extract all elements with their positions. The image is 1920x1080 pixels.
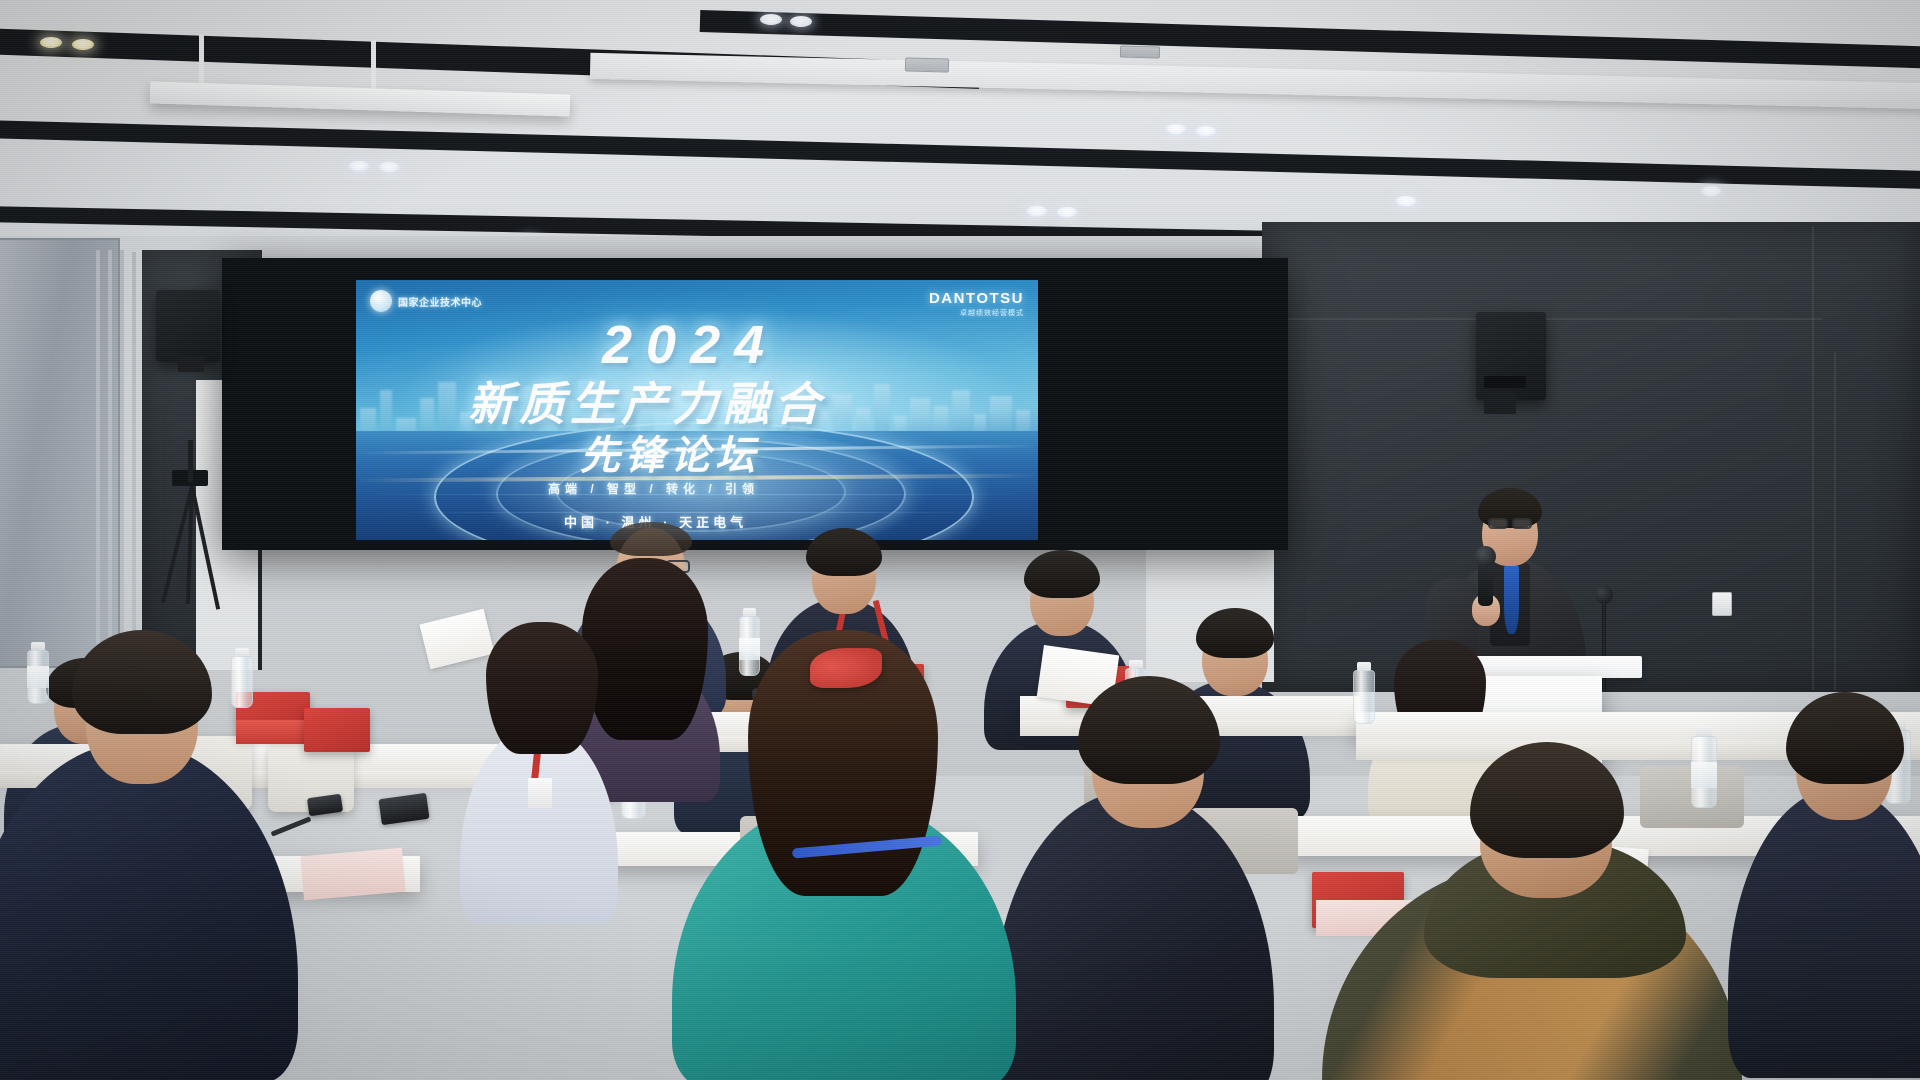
light-switch-plate — [1712, 592, 1732, 616]
gift-box-face — [236, 720, 310, 744]
bottle-body — [1353, 670, 1375, 724]
handheld-microphone-capsule-icon — [1475, 546, 1496, 567]
screen-subheadline-text: 先锋论坛 — [580, 423, 760, 481]
air-vent — [905, 57, 949, 72]
ceiling — [0, 0, 1920, 250]
tripod-column — [188, 440, 193, 482]
pen — [271, 816, 312, 836]
bottle-label — [1691, 762, 1717, 788]
smartphone — [307, 794, 343, 817]
downlight-11 — [1195, 126, 1217, 137]
bottle-body — [231, 656, 253, 708]
mullion-4 — [132, 252, 136, 670]
ceiling-hanger-left — [199, 34, 204, 90]
presenter-glasses-right — [1512, 518, 1532, 529]
downlight-12 — [1026, 206, 1048, 217]
loudspeaker-right-mount — [1484, 392, 1516, 414]
wall-seam-vertical — [1812, 226, 1814, 690]
bottle-label — [739, 638, 760, 660]
loudspeaker-left-mount — [178, 356, 204, 372]
downlight-1 — [40, 37, 62, 48]
name-badge — [528, 778, 552, 808]
body — [0, 742, 298, 1080]
downlight-8 — [760, 14, 782, 25]
screen-year-text: 2024 — [602, 314, 778, 376]
led-screen: 国家企业技术中心 DANTOTSU 卓越绩效经营模式 2024 新质生产力融合 … — [356, 280, 1038, 540]
screen-logo-left-text: 国家企业技术中心 — [398, 294, 482, 309]
downlight-13 — [1056, 207, 1078, 218]
air-vent-2 — [1120, 46, 1160, 59]
loudspeaker-right-grill — [1484, 376, 1526, 388]
document-sheet-pink — [300, 848, 405, 901]
downlight-4 — [378, 162, 400, 173]
downlight-15 — [1700, 186, 1722, 197]
presenter-tie — [1504, 566, 1519, 634]
hair — [610, 522, 692, 556]
gift-box — [304, 708, 370, 752]
brand-subtitle-text: 卓越绩效经营模式 — [929, 308, 1024, 318]
conference-photo-scene: 国家企业技术中心 DANTOTSU 卓越绩效经营模式 2024 新质生产力融合 … — [0, 0, 1920, 1080]
mullion-2 — [108, 250, 112, 670]
bottle-label — [27, 666, 49, 688]
ceiling-light-panel — [150, 81, 570, 116]
downlight-2 — [72, 39, 94, 50]
screen-logo-left: 国家企业技术中心 — [370, 290, 482, 312]
loudspeaker-left — [156, 290, 220, 362]
circle-logo-mark-icon — [370, 290, 392, 312]
wall-seam-vertical-2 — [1834, 352, 1836, 690]
glass-partition-left — [0, 238, 120, 668]
hair — [486, 622, 598, 754]
smartphone — [378, 793, 429, 825]
presenter-glasses — [1488, 518, 1508, 529]
hair-bow — [810, 648, 882, 688]
ceiling-channel-2 — [0, 120, 1920, 190]
mullion-3 — [120, 250, 124, 670]
downlight-10 — [1165, 124, 1187, 135]
screen-logo-right: DANTOTSU 卓越绩效经营模式 — [929, 290, 1024, 318]
downlight-14 — [1395, 196, 1417, 207]
hair — [582, 558, 708, 740]
downlight-9 — [790, 16, 812, 27]
brand-name-text: DANTOTSU — [929, 290, 1024, 307]
downlight-3 — [348, 161, 370, 172]
mullion-1 — [96, 250, 100, 670]
screen-tagline-text: 高端 / 智型 / 转化 / 引领 — [548, 480, 759, 497]
